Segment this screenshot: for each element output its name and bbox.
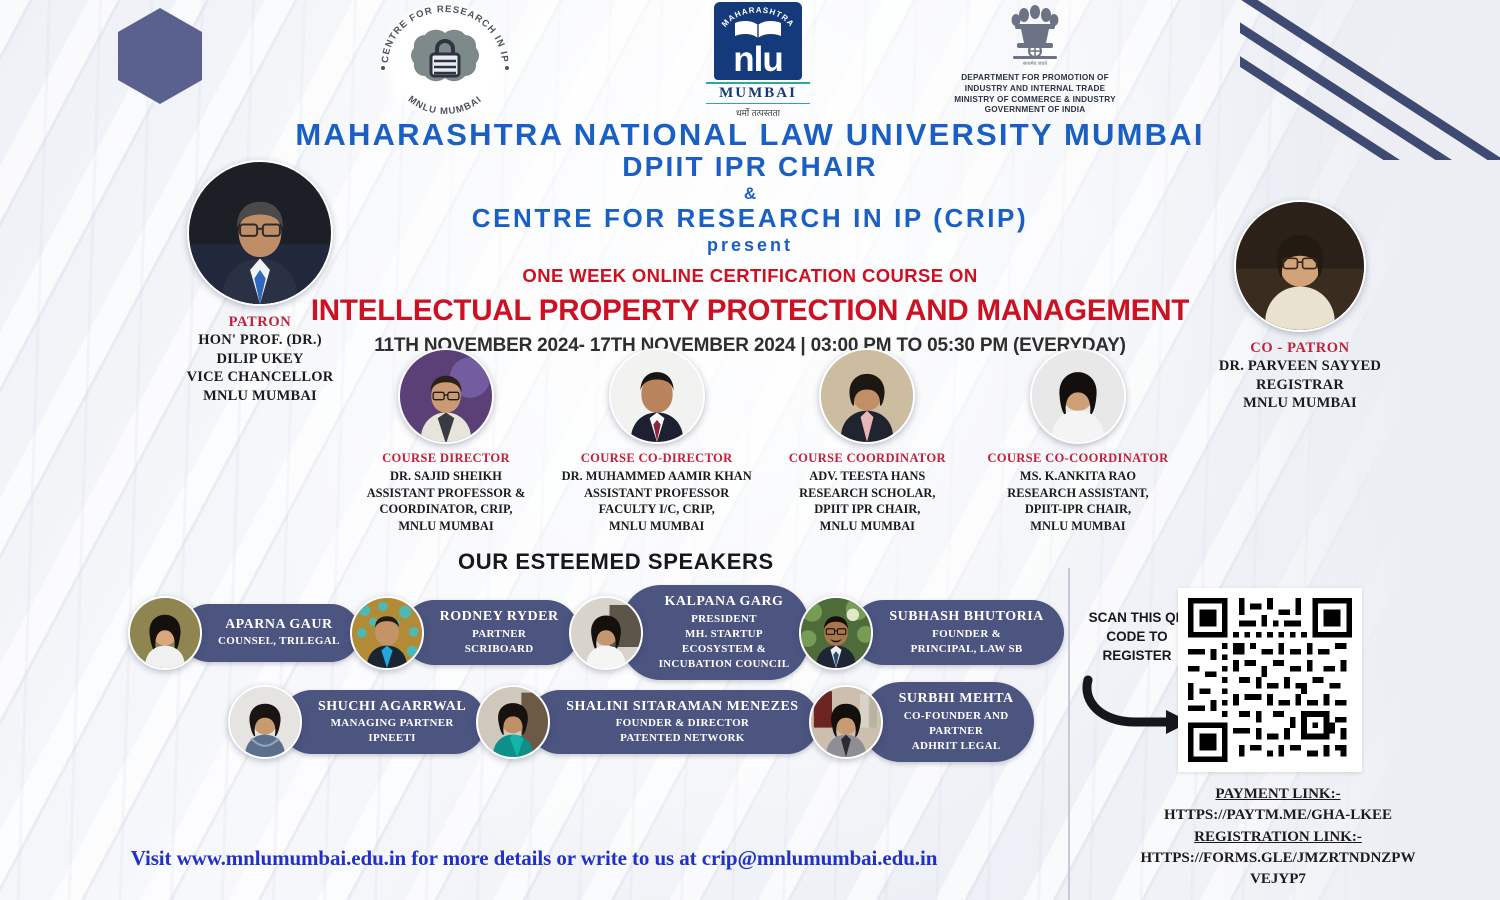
speaker-title-line-2: MH. STARTUP <box>659 627 790 641</box>
co-patron-role: CO - PATRON <box>1212 340 1388 357</box>
committee-member: COURSE CO-DIRECTOR DR. MUHAMMED AAMIR KH… <box>557 348 757 534</box>
svg-text:सत्यमेव जयते: सत्यमेव जयते <box>1023 60 1047 66</box>
speaker-pill: APARNA GAUR COUNSEL, TRILEGAL <box>180 604 360 662</box>
co-patron-name: DR. PARVEEN SAYYED <box>1212 357 1388 376</box>
co-patron-designation: REGISTRAR <box>1212 376 1388 395</box>
speaker-photo <box>569 596 643 670</box>
speaker-title-line-3: ECOSYSTEM & <box>659 642 790 656</box>
university-name: MAHARASHTRA NATIONAL LAW UNIVERSITY MUMB… <box>250 118 1250 151</box>
dpiit-logo: सत्यमेव जयते DEPARTMENT FOR PROMOTION OF… <box>945 4 1125 116</box>
speaker-pill: SURBHI MEHTA CO-FOUNDER AND PARTNER ADHR… <box>861 682 1034 762</box>
speaker-title-line-1: PRESIDENT <box>659 612 790 626</box>
speaker-name: SUBHASH BHUTORIA <box>889 609 1043 626</box>
committee-role: COURSE CO-DIRECTOR <box>557 451 757 466</box>
speaker-pill: SHUCHI AGARRWAL MANAGING PARTNER IPNEETI <box>280 690 486 755</box>
logo-row: CENTRE FOR RESEARCH IN IP MNLU MUMBAI <box>0 0 1500 120</box>
poster-canvas: CENTRE FOR RESEARCH IN IP MNLU MUMBAI <box>0 0 1500 900</box>
speaker-name: APARNA GAUR <box>218 617 340 634</box>
registration-link-url-line-2[interactable]: VEJYP7 <box>1068 869 1488 890</box>
speaker-name: RODNEY RYDER <box>440 609 559 626</box>
committee-desc-line-2: COORDINATOR, CRIP, <box>346 501 546 518</box>
committee-desc-line-2: DPIIT IPR CHAIR, <box>767 501 967 518</box>
registration-links: PAYMENT LINK:- HTTPS://PAYTM.ME/GHA-LKEE… <box>1068 784 1488 890</box>
speakers-row-2: SHUCHI AGARRWAL MANAGING PARTNER IPNEETI… <box>228 682 1034 762</box>
patron-photo <box>187 160 333 306</box>
speaker-title-line-1: PARTNER <box>440 627 559 641</box>
patron-name: HON' PROF. (DR.) DILIP UKEY <box>178 331 342 368</box>
speaker-name: SHALINI SITARAMAN MENEZES <box>566 699 798 716</box>
speaker-title-line-2: PATENTED NETWORK <box>566 731 798 745</box>
speaker-title-line-1: FOUNDER & DIRECTOR <box>566 716 798 730</box>
speaker-title-line-1: CO-FOUNDER AND <box>899 709 1014 723</box>
present-label: present <box>250 235 1250 256</box>
speaker-title-line-2: SCRIBOARD <box>440 642 559 656</box>
nlu-city-label: MUMBAI <box>706 82 810 104</box>
committee-desc-line-3: MNLU MUMBAI <box>767 518 967 535</box>
course-kicker: ONE WEEK ONLINE CERTIFICATION COURSE ON <box>250 265 1250 287</box>
svg-text:MNLU MUMBAI: MNLU MUMBAI <box>406 94 484 116</box>
committee-desc-line-1: ASSISTANT PROFESSOR <box>557 485 757 502</box>
patron-institution: MNLU MUMBAI <box>178 387 342 406</box>
speaker-title-line-3: ADHRIT LEGAL <box>899 739 1014 753</box>
committee-desc-line-3: MNLU MUMBAI <box>557 518 757 535</box>
scan-instruction: SCAN THIS QR CODE TO REGISTER <box>1081 608 1193 665</box>
registration-link-label: REGISTRATION LINK:- <box>1068 827 1488 848</box>
speaker-photo <box>228 685 302 759</box>
nlu-shield: MAHARASHTRA nlu <box>714 2 802 80</box>
committee-member: COURSE DIRECTOR DR. SAJID SHEIKH ASSISTA… <box>346 348 546 534</box>
committee-name: DR. MUHAMMED AAMIR KHAN <box>557 468 757 485</box>
committee-desc-line-1: ASSISTANT PROFESSOR & <box>346 485 546 502</box>
crip-logo: CENTRE FOR RESEARCH IN IP MNLU MUMBAI <box>372 4 518 116</box>
speaker-card: SURBHI MEHTA CO-FOUNDER AND PARTNER ADHR… <box>809 682 1034 762</box>
dpiit-caption-line-1: DEPARTMENT FOR PROMOTION OF <box>945 73 1125 84</box>
nlu-mumbai-logo: MAHARASHTRA nlu MUMBAI धर्मो तत्पस्तता <box>706 2 810 118</box>
committee-photo <box>819 348 915 444</box>
speaker-card: SUBHASH BHUTORIA FOUNDER & PRINCIPAL, LA… <box>799 596 1063 670</box>
ashoka-emblem-icon: सत्यमेव जयते <box>1007 4 1063 66</box>
speaker-title-line-2: PARTNER <box>899 724 1014 738</box>
speaker-title-line-1: FOUNDER & <box>889 627 1043 641</box>
committee-photo <box>609 348 705 444</box>
ampersand: & <box>250 183 1250 204</box>
open-book-icon <box>733 19 783 39</box>
registration-link-url-line-1[interactable]: HTTPS://FORMS.GLE/JMZRTNDNZPW <box>1068 848 1488 869</box>
crip-ring-bottom-text: MNLU MUMBAI <box>406 94 484 116</box>
speaker-photo <box>128 596 202 670</box>
speaker-name: SURBHI MEHTA <box>899 691 1014 708</box>
speaker-pill: SUBHASH BHUTORIA FOUNDER & PRINCIPAL, LA… <box>851 600 1063 665</box>
speaker-title-line-1: COUNSEL, TRILEGAL <box>218 634 340 648</box>
committee-desc-line-2: FACULTY I/C, CRIP, <box>557 501 757 518</box>
speaker-photo <box>476 685 550 759</box>
dpiit-caption-line-4: GOVERNMENT OF INDIA <box>945 105 1125 116</box>
committee-role: COURSE COORDINATOR <box>767 451 967 466</box>
nlu-wordmark: nlu <box>714 42 802 77</box>
speakers-heading: OUR ESTEEMED SPEAKERS <box>458 549 774 575</box>
speaker-title-line-1: MANAGING PARTNER <box>318 716 466 730</box>
qr-code[interactable] <box>1178 588 1362 772</box>
committee-photo <box>398 348 494 444</box>
co-patron-block: CO - PATRON DR. PARVEEN SAYYED REGISTRAR… <box>1212 200 1388 413</box>
speaker-card: SHUCHI AGARRWAL MANAGING PARTNER IPNEETI <box>228 685 486 759</box>
course-title: INTELLECTUAL PROPERTY PROTECTION AND MAN… <box>250 294 1250 328</box>
speaker-card: APARNA GAUR COUNSEL, TRILEGAL <box>128 596 360 670</box>
payment-link-label: PAYMENT LINK:- <box>1068 784 1488 805</box>
patron-block: PATRON HON' PROF. (DR.) DILIP UKEY VICE … <box>178 160 342 405</box>
patron-role: PATRON <box>178 314 342 331</box>
speaker-card: KALPANA GARG PRESIDENT MH. STARTUP ECOSY… <box>569 585 810 680</box>
committee-name: MS. K.ANKITA RAO <box>978 468 1178 485</box>
committee-desc-line-1: RESEARCH ASSISTANT, <box>978 485 1178 502</box>
qr-code-icon <box>1188 598 1352 762</box>
committee-role: COURSE DIRECTOR <box>346 451 546 466</box>
speakers-row-1: APARNA GAUR COUNSEL, TRILEGAL <box>128 585 1064 680</box>
speaker-pill: SHALINI SITARAMAN MENEZES FOUNDER & DIRE… <box>528 690 818 755</box>
committee-photo <box>1030 348 1126 444</box>
speaker-pill: RODNEY RYDER PARTNER SCRIBOARD <box>402 600 579 665</box>
speaker-pill: KALPANA GARG PRESIDENT MH. STARTUP ECOSY… <box>621 585 810 680</box>
co-patron-institution: MNLU MUMBAI <box>1212 394 1388 413</box>
committee-member: COURSE COORDINATOR ADV. TEESTA HANS RESE… <box>767 348 967 534</box>
centre-name: CENTRE FOR RESEARCH IN IP (CRIP) <box>250 204 1250 234</box>
dpiit-caption-line-2: INDUSTRY AND INTERNAL TRADE <box>945 84 1125 95</box>
speaker-title-line-2: IPNEETI <box>318 731 466 745</box>
brain-lock-icon <box>407 28 483 92</box>
patron-designation: VICE CHANCELLOR <box>178 368 342 387</box>
speaker-card: SHALINI SITARAMAN MENEZES FOUNDER & DIRE… <box>476 685 818 759</box>
speaker-card: RODNEY RYDER PARTNER SCRIBOARD <box>350 596 579 670</box>
committee-role: COURSE CO-COORDINATOR <box>978 451 1178 466</box>
committee-desc-line-3: MNLU MUMBAI <box>978 518 1178 535</box>
speaker-photo <box>350 596 424 670</box>
headline-block: MAHARASHTRA NATIONAL LAW UNIVERSITY MUMB… <box>250 118 1250 357</box>
committee-desc-line-3: MNLU MUMBAI <box>346 518 546 535</box>
dpiit-caption-line-3: MINISTRY OF COMMERCE & INDUSTRY <box>945 95 1125 106</box>
speaker-photo <box>809 685 883 759</box>
speaker-photo <box>799 596 873 670</box>
chair-name: DPIIT IPR CHAIR <box>250 151 1250 182</box>
organising-committee: COURSE DIRECTOR DR. SAJID SHEIKH ASSISTA… <box>346 348 1178 534</box>
committee-name: DR. SAJID SHEIKH <box>346 468 546 485</box>
dpiit-caption: DEPARTMENT FOR PROMOTION OF INDUSTRY AND… <box>945 73 1125 116</box>
speaker-title-line-4: INCUBATION COUNCIL <box>659 657 790 671</box>
co-patron-photo <box>1234 200 1366 332</box>
speaker-name: SHUCHI AGARRWAL <box>318 699 466 716</box>
speaker-title-line-2: PRINCIPAL, LAW SB <box>889 642 1043 656</box>
payment-link-url[interactable]: HTTPS://PAYTM.ME/GHA-LKEE <box>1068 805 1488 826</box>
committee-desc-line-2: DPIIT-IPR CHAIR, <box>978 501 1178 518</box>
committee-desc-line-1: RESEARCH SCHOLAR, <box>767 485 967 502</box>
committee-member: COURSE CO-COORDINATOR MS. K.ANKITA RAO R… <box>978 348 1178 534</box>
committee-name: ADV. TEESTA HANS <box>767 468 967 485</box>
speaker-name: KALPANA GARG <box>659 594 790 611</box>
footer-contact: Visit www.mnlumumbai.edu.in for more det… <box>0 846 1068 871</box>
